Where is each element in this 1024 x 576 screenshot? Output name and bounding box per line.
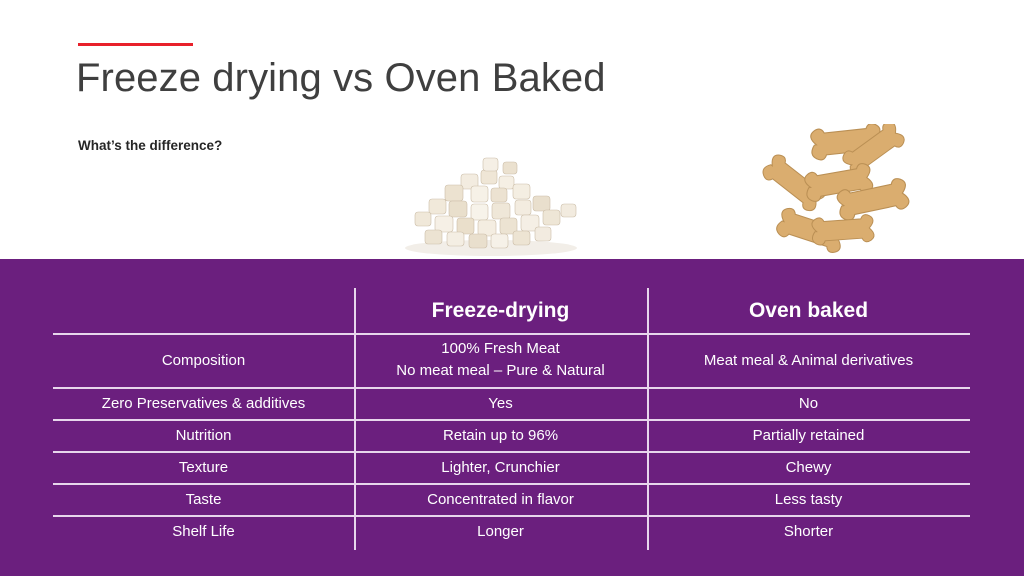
oven-baked-biscuits-image: [757, 124, 922, 260]
row-label-composition: Composition: [53, 333, 354, 387]
table-header-row: Freeze-drying Oven baked: [53, 288, 970, 333]
row-label-taste: Taste: [53, 483, 354, 515]
page-title: Freeze drying vs Oven Baked: [76, 56, 606, 101]
table-row: Nutrition Retain up to 96% Partially ret…: [53, 419, 970, 451]
cell-freeze-nutrition: Retain up to 96%: [354, 419, 647, 451]
cell-oven-taste: Less tasty: [647, 483, 970, 515]
table-row: Zero Preservatives & additives Yes No: [53, 387, 970, 419]
cell-oven-shelf-life: Shorter: [647, 515, 970, 547]
cell-freeze-composition: 100% Fresh Meat No meat meal – Pure & Na…: [354, 333, 647, 387]
title-accent-rule: [78, 43, 193, 46]
cell-oven-zero-preservatives: No: [647, 387, 970, 419]
cell-freeze-texture: Lighter, Crunchier: [354, 451, 647, 483]
cell-freeze-shelf-life: Longer: [354, 515, 647, 547]
row-label-nutrition: Nutrition: [53, 419, 354, 451]
slide: Freeze drying vs Oven Baked What’s the d…: [0, 0, 1024, 576]
table-row: Shelf Life Longer Shorter: [53, 515, 970, 547]
comparison-table: Freeze-drying Oven baked Composition 100…: [53, 288, 970, 550]
comparison-panel: Freeze-drying Oven baked Composition 100…: [0, 259, 1024, 576]
row-label-zero-preservatives: Zero Preservatives & additives: [53, 387, 354, 419]
header-oven-baked: Oven baked: [647, 288, 970, 333]
table-row: Taste Concentrated in flavor Less tasty: [53, 483, 970, 515]
header-label-blank: [53, 288, 354, 333]
cell-oven-composition: Meat meal & Animal derivatives: [647, 333, 970, 387]
row-label-texture: Texture: [53, 451, 354, 483]
freeze-dried-food-image: [385, 152, 597, 260]
table-row: Composition 100% Fresh Meat No meat meal…: [53, 333, 970, 387]
cell-oven-nutrition: Partially retained: [647, 419, 970, 451]
cell-freeze-composition-line2: No meat meal – Pure & Natural: [396, 360, 604, 382]
cell-freeze-taste: Concentrated in flavor: [354, 483, 647, 515]
cell-freeze-composition-line1: 100% Fresh Meat: [441, 338, 559, 360]
row-label-shelf-life: Shelf Life: [53, 515, 354, 547]
cell-oven-texture: Chewy: [647, 451, 970, 483]
cell-freeze-zero-preservatives: Yes: [354, 387, 647, 419]
slide-subtitle: What’s the difference?: [78, 138, 222, 153]
table-row: Texture Lighter, Crunchier Chewy: [53, 451, 970, 483]
header-freeze-drying: Freeze-drying: [354, 288, 647, 333]
